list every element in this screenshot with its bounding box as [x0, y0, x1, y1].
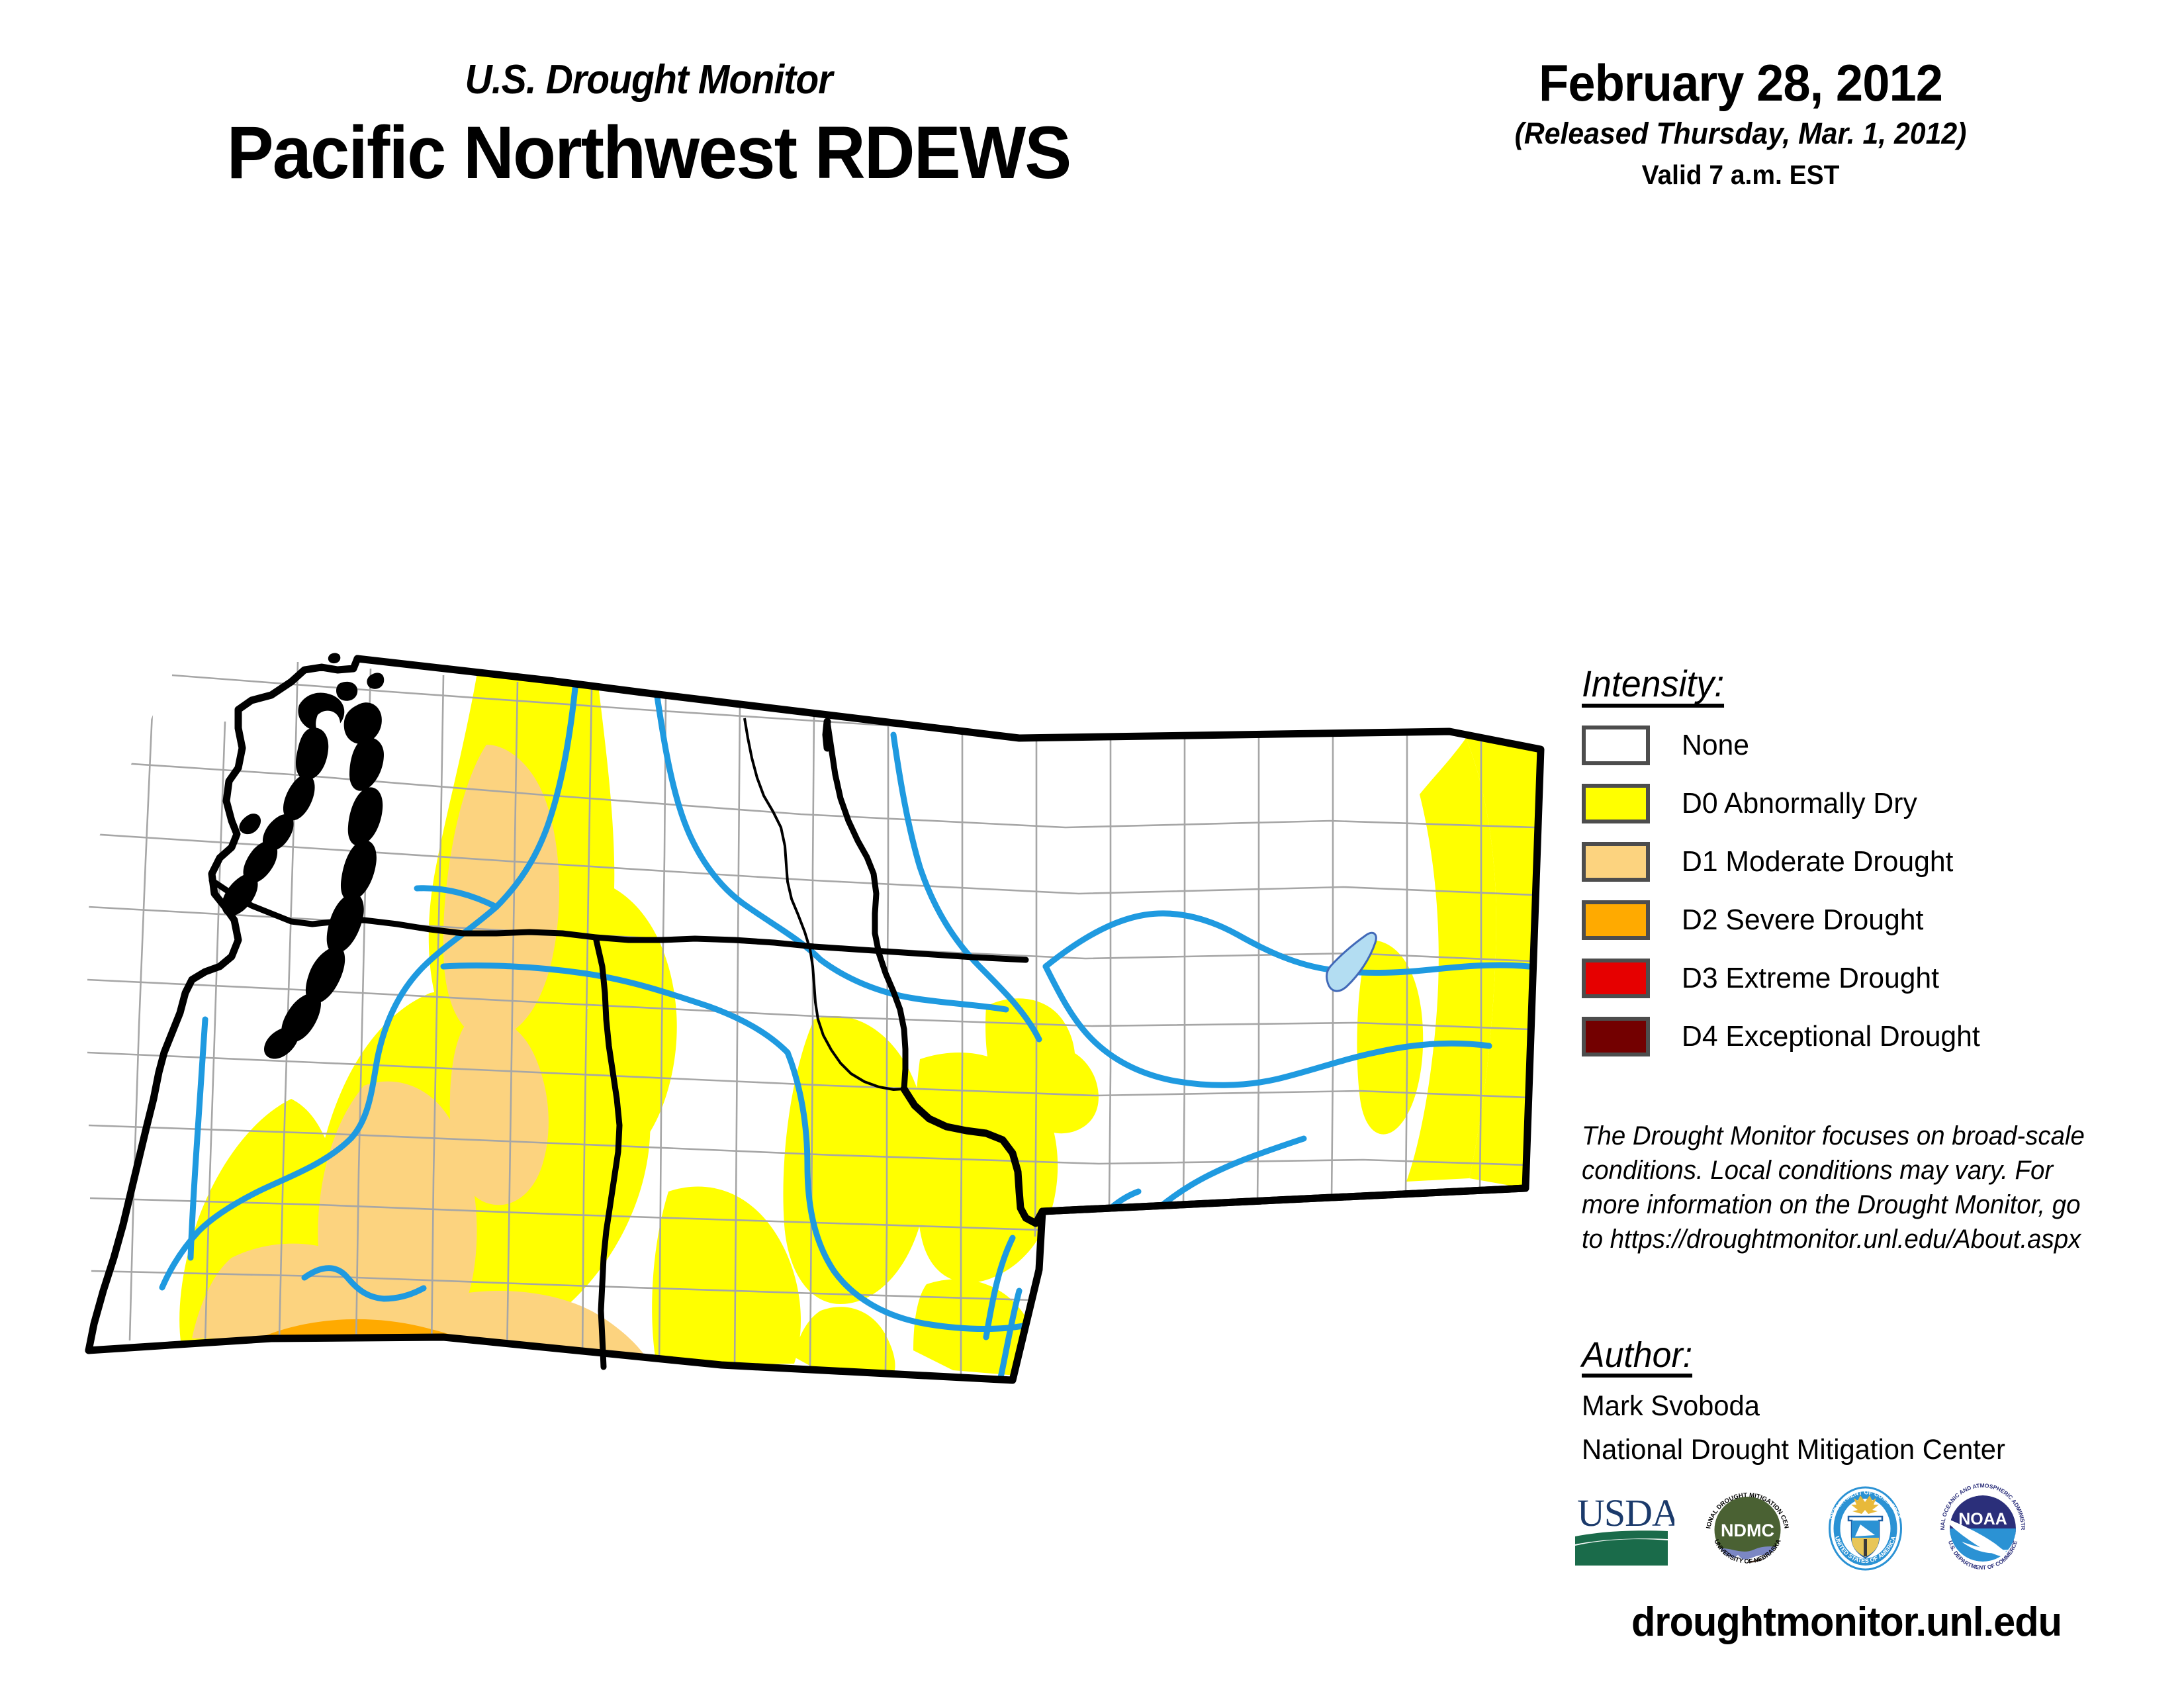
author-block: Author: Mark Svoboda National Drought Mi…	[1582, 1337, 2124, 1466]
legend-swatch-d2	[1582, 900, 1650, 940]
header-left-titles: U.S. Drought Monitor Pacific Northwest R…	[0, 60, 1297, 192]
legend-item-d1[interactable]: D1 Moderate Drought	[1582, 841, 2124, 882]
legend-swatch-d0	[1582, 784, 1650, 823]
author-heading: Author:	[1582, 1337, 1692, 1378]
legend-item-d3[interactable]: D3 Extreme Drought	[1582, 958, 2124, 999]
footer-url[interactable]: droughtmonitor.unl.edu	[1561, 1599, 2132, 1646]
disclaimer-text: The Drought Monitor focuses on broad-sca…	[1582, 1119, 2090, 1256]
legend-label-d0: D0 Abnormally Dry	[1682, 789, 1917, 818]
legend-label-none: None	[1682, 731, 1749, 760]
valid-date: February 28, 2012	[1458, 56, 2024, 111]
header-right-dates: February 28, 2012 (Released Thursday, Ma…	[1443, 56, 2038, 190]
noaa-logo: NOAA NATIONAL OCEANIC AND ATMOSPHERIC AD…	[1935, 1478, 2031, 1581]
legend-swatch-d4	[1582, 1017, 1650, 1056]
page-title: Pacific Northwest RDEWS	[32, 114, 1265, 192]
legend-swatch-d1	[1582, 842, 1650, 882]
usda-logo: USDA	[1575, 1485, 1674, 1574]
author-organization: National Drought Mitigation Center	[1582, 1434, 2108, 1465]
legend-item-d2[interactable]: D2 Severe Drought	[1582, 900, 2124, 941]
svg-text:NOAA: NOAA	[1958, 1510, 2007, 1528]
legend-title: Intensity:	[1582, 665, 1724, 708]
svg-text:USDA: USDA	[1577, 1491, 1674, 1534]
ndmc-logo: NDMC NATIONAL DROUGHT MITIGATION CENTER …	[1700, 1479, 1796, 1579]
drought-map[interactable]	[73, 596, 1549, 1410]
legend-label-d4: D4 Exceptional Drought	[1682, 1022, 1980, 1051]
author-name: Mark Svoboda	[1582, 1391, 2108, 1421]
partner-logos: USDA NDMC NATIONAL DRO	[1575, 1466, 2124, 1592]
legend-label-d3: D3 Extreme Drought	[1682, 964, 1939, 993]
commerce-logo: DEPARTMENT OF COMMERCE UNITED STATES OF …	[1821, 1478, 1910, 1581]
legend-swatch-d3	[1582, 959, 1650, 998]
legend-label-d1: D1 Moderate Drought	[1682, 847, 1953, 876]
svg-text:NDMC: NDMC	[1721, 1521, 1774, 1540]
legend-label-d2: D2 Severe Drought	[1682, 906, 1923, 935]
legend-item-d4[interactable]: D4 Exceptional Drought	[1582, 1016, 2124, 1057]
legend-swatch-none	[1582, 726, 1650, 765]
legend-item-d0[interactable]: D0 Abnormally Dry	[1582, 783, 2124, 824]
valid-time: Valid 7 a.m. EST	[1458, 160, 2024, 190]
drought-monitor-eyebrow: U.S. Drought Monitor	[52, 60, 1245, 101]
intensity-legend: Intensity: None D0 Abnormally Dry D1 Mod…	[1582, 665, 2124, 1057]
legend-item-none[interactable]: None	[1582, 725, 2124, 766]
release-date: (Released Thursday, Mar. 1, 2012)	[1458, 117, 2024, 150]
